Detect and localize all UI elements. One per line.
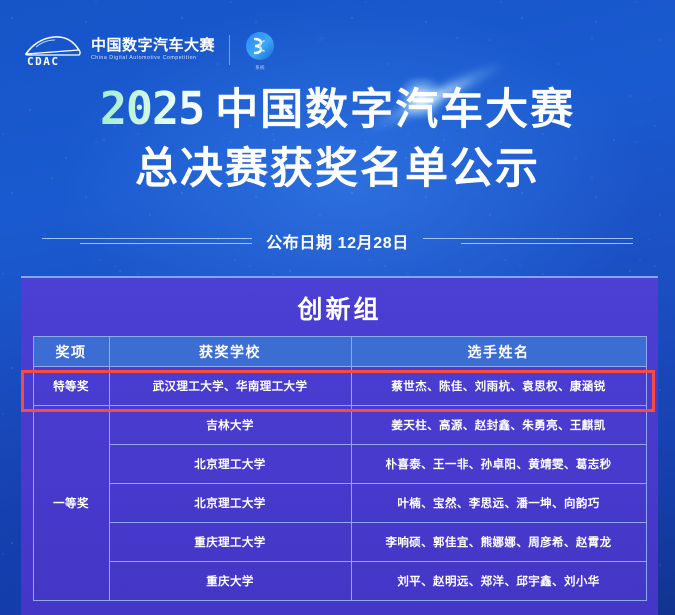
cell-names: 蔡世杰、陈佳、刘雨杭、袁思权、康涵锐 bbox=[351, 367, 646, 406]
cell-school: 北京理工大学 bbox=[109, 484, 351, 523]
cell-award: 一等奖 bbox=[33, 406, 109, 601]
date-rule-right bbox=[423, 238, 633, 244]
cell-school: 北京理工大学 bbox=[109, 445, 351, 484]
publish-date-bar: 公布日期 12月28日 bbox=[0, 229, 675, 253]
car-outline-icon: CDAC bbox=[22, 33, 84, 67]
cell-names: 朴喜泰、王一非、孙卓阳、黄靖雯、葛志秒 bbox=[351, 445, 646, 484]
cell-school: 吉林大学 bbox=[109, 406, 351, 445]
poster-root: CDAC 中国数字汽车大赛 China Digital Automotive C… bbox=[0, 0, 675, 615]
page-title-line1: 2025中国数字汽车大赛 bbox=[0, 86, 675, 132]
cell-names: 刘平、赵明远、郑洋、邱宇鑫、刘小华 bbox=[351, 562, 646, 601]
cell-award: 特等奖 bbox=[33, 367, 109, 406]
cell-school: 武汉理工大学、华南理工大学 bbox=[109, 367, 351, 406]
awards-table-body: 特等奖 武汉理工大学、华南理工大学 蔡世杰、陈佳、刘雨杭、袁思权、康涵锐 一等奖… bbox=[33, 367, 646, 601]
page-title-line2: 总决赛获奖名单公示 bbox=[0, 148, 675, 191]
group-title: 创新组 bbox=[21, 278, 658, 336]
title-main-text: 中国数字汽车大赛 bbox=[215, 86, 575, 134]
brand-name-cn: 中国数字汽车大赛 bbox=[91, 38, 215, 54]
date-rule-left bbox=[42, 238, 252, 244]
partner-caption: 系统 bbox=[243, 65, 277, 71]
awards-panel: 创新组 奖项 获奖学校 选手姓名 特等奖 武汉理工大学、华南理工大学 蔡世杰、陈… bbox=[21, 276, 658, 615]
brand-logo-bar: CDAC 中国数字汽车大赛 China Digital Automotive C… bbox=[22, 28, 277, 72]
brand-name-en: China Digital Automotive Competition bbox=[91, 56, 215, 62]
logo-divider bbox=[229, 35, 230, 65]
cell-school: 重庆理工大学 bbox=[109, 523, 351, 562]
table-header-row: 奖项 获奖学校 选手姓名 bbox=[33, 337, 646, 367]
table-row: 重庆理工大学 李响硕、郭佳宜、熊娜娜、周彦希、赵霄龙 bbox=[33, 523, 646, 562]
column-header-award: 奖项 bbox=[33, 337, 109, 367]
brand-wordmark: 中国数字汽车大赛 China Digital Automotive Compet… bbox=[91, 38, 215, 61]
partner-logo: 系统 bbox=[243, 30, 277, 71]
awards-table: 奖项 获奖学校 选手姓名 特等奖 武汉理工大学、华南理工大学 蔡世杰、陈佳、刘雨… bbox=[33, 336, 647, 601]
table-row: 北京理工大学 叶楠、宝然、李思远、潘一坤、向韵巧 bbox=[33, 484, 646, 523]
title-year: 2025 bbox=[100, 82, 204, 135]
cell-school: 重庆大学 bbox=[109, 562, 351, 601]
column-header-names: 选手姓名 bbox=[351, 337, 646, 367]
cell-names: 姜天柱、高源、赵封鑫、朱勇亮、王麒凯 bbox=[351, 406, 646, 445]
cell-names: 叶楠、宝然、李思远、潘一坤、向韵巧 bbox=[351, 484, 646, 523]
table-row: 特等奖 武汉理工大学、华南理工大学 蔡世杰、陈佳、刘雨杭、袁思权、康涵锐 bbox=[33, 367, 646, 406]
cell-names: 李响硕、郭佳宜、熊娜娜、周彦希、赵霄龙 bbox=[351, 523, 646, 562]
publish-date-label: 公布日期 12月28日 bbox=[266, 229, 409, 253]
table-row: 北京理工大学 朴喜泰、王一非、孙卓阳、黄靖雯、葛志秒 bbox=[33, 445, 646, 484]
table-row: 重庆大学 刘平、赵明远、郑洋、邱宇鑫、刘小华 bbox=[33, 562, 646, 601]
column-header-school: 获奖学校 bbox=[109, 337, 351, 367]
table-row: 一等奖 吉林大学 姜天柱、高源、赵封鑫、朱勇亮、王麒凯 bbox=[33, 406, 646, 445]
svg-text:CDAC: CDAC bbox=[27, 55, 60, 67]
